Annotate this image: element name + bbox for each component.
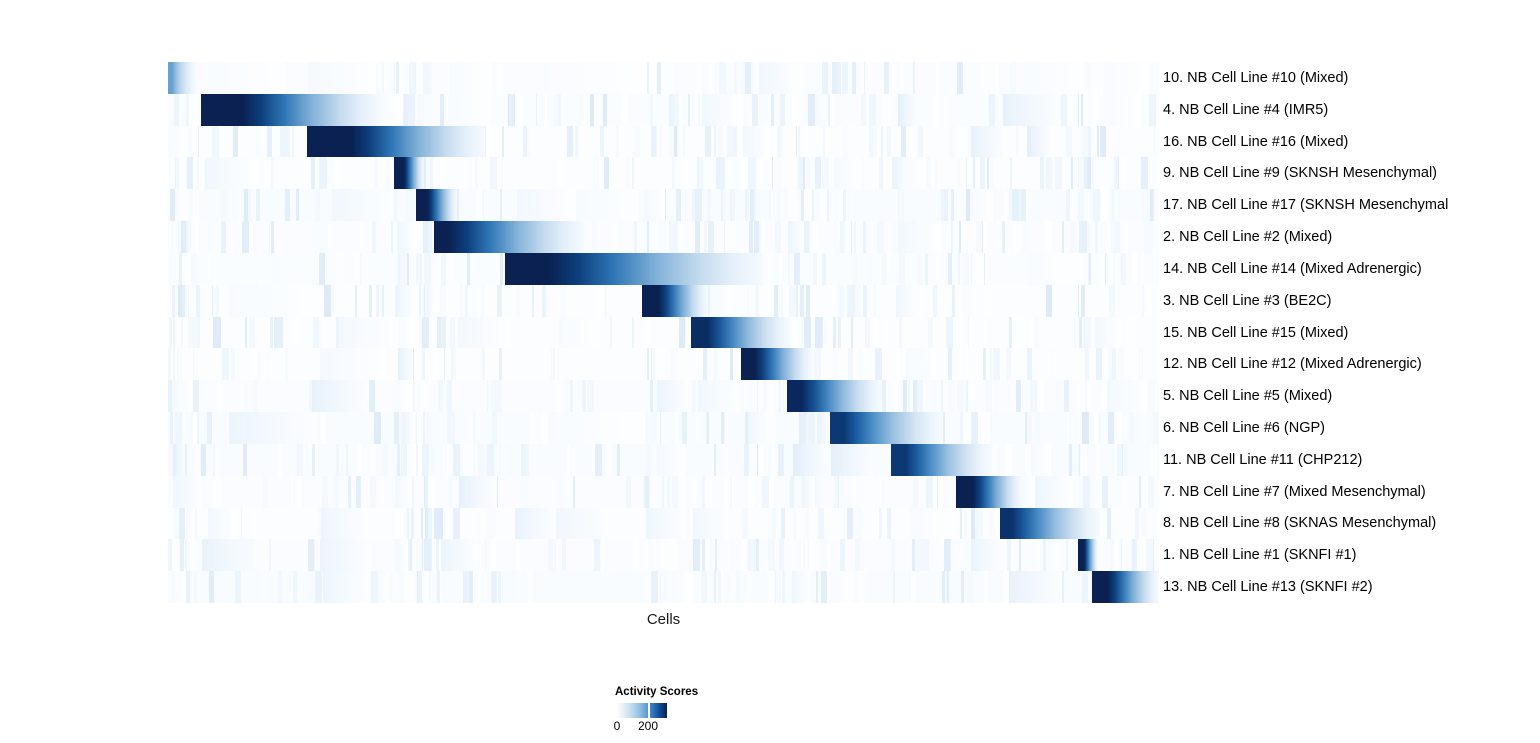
heatmap-noise-column — [667, 476, 671, 508]
heatmap-noise-column — [1035, 412, 1041, 444]
heatmap-noise-column — [561, 571, 564, 603]
heatmap-block-smear — [1030, 253, 1065, 285]
row-label: 2. NB Cell Line #2 (Mixed) — [1163, 227, 1332, 247]
heatmap-noise-column — [293, 317, 299, 349]
x-axis-label: Cells — [168, 611, 1159, 628]
heatmap-noise-column — [516, 539, 520, 571]
heatmap-noise-column — [757, 380, 759, 412]
heatmap-noise-column — [961, 221, 964, 253]
heatmap-noise-column — [564, 444, 566, 476]
heatmap-noise-column — [1018, 126, 1024, 158]
heatmap-block-smear — [397, 221, 416, 253]
heatmap-noise-column — [979, 508, 983, 540]
heatmap-noise-column — [626, 157, 630, 189]
heatmap-noise-column — [1034, 189, 1038, 221]
heatmap-noise-column — [973, 317, 979, 349]
heatmap-noise-column — [610, 317, 612, 349]
heatmap-figure: GEPs Cells 10. NB Cell Line #10 (Mixed)4… — [0, 0, 1540, 743]
heatmap-noise-column — [1046, 157, 1052, 189]
heatmap-noise-column — [658, 221, 665, 253]
heatmap-noise-column — [473, 508, 476, 540]
heatmap-noise-column — [778, 285, 780, 317]
heatmap-noise-column — [182, 253, 186, 285]
heatmap-block-smear — [208, 508, 235, 540]
heatmap-noise-column — [650, 412, 657, 444]
heatmap-noise-column — [1144, 539, 1146, 571]
heatmap-block-smear — [1031, 444, 1051, 476]
heatmap-noise-column — [1087, 62, 1089, 94]
row-label: 5. NB Cell Line #5 (Mixed) — [1163, 386, 1332, 406]
heatmap-noise-column — [634, 221, 636, 253]
heatmap-noise-column — [768, 539, 775, 571]
heatmap-noise-column — [1100, 412, 1107, 444]
heatmap-noise-column — [840, 221, 843, 253]
heatmap-noise-column — [500, 189, 502, 221]
heatmap-noise-column — [430, 444, 434, 476]
heatmap-noise-column — [237, 189, 241, 221]
heatmap-noise-column — [453, 444, 459, 476]
heatmap-noise-column — [626, 476, 630, 508]
heatmap-block-smear — [1095, 317, 1120, 349]
heatmap-noise-column — [971, 412, 975, 444]
heatmap-block-smear — [830, 571, 853, 603]
heatmap-noise-column — [253, 380, 256, 412]
heatmap-noise-column — [1094, 412, 1099, 444]
heatmap-noise-column — [490, 157, 497, 189]
heatmap-noise-column — [271, 253, 278, 285]
heatmap-noise-column — [768, 412, 775, 444]
heatmap-noise-column — [1087, 380, 1090, 412]
heatmap-noise-column — [406, 189, 413, 221]
heatmap-noise-column — [334, 221, 340, 253]
heatmap-noise-column — [441, 317, 446, 349]
heatmap-block-smear — [1103, 62, 1151, 94]
heatmap-noise-column — [1127, 285, 1133, 317]
heatmap-noise-column — [296, 126, 300, 158]
heatmap-activity-band — [307, 126, 485, 158]
heatmap-noise-column — [176, 157, 180, 189]
heatmap-noise-column — [917, 253, 922, 285]
heatmap-noise-column — [1104, 539, 1106, 571]
heatmap-noise-column — [1143, 476, 1146, 508]
heatmap-row — [168, 285, 1159, 317]
heatmap-noise-column — [523, 126, 527, 158]
heatmap-noise-column — [703, 348, 707, 380]
heatmap-noise-column — [340, 253, 344, 285]
heatmap-noise-column — [614, 476, 616, 508]
heatmap-noise-column — [697, 62, 701, 94]
heatmap-noise-column — [683, 94, 688, 126]
heatmap-noise-column — [557, 348, 560, 380]
heatmap-noise-column — [253, 508, 256, 540]
heatmap-block-smear — [517, 189, 576, 221]
heatmap-noise-column — [759, 539, 761, 571]
heatmap-noise-column — [873, 126, 877, 158]
heatmap-noise-column — [355, 285, 357, 317]
heatmap-noise-column — [270, 317, 272, 349]
heatmap-noise-column — [911, 571, 916, 603]
heatmap-block-smear — [657, 444, 685, 476]
heatmap-activity-band — [1000, 508, 1099, 540]
heatmap-noise-column — [1108, 412, 1114, 444]
heatmap-noise-column — [994, 380, 999, 412]
heatmap-noise-column — [885, 94, 891, 126]
heatmap-noise-column — [602, 476, 607, 508]
heatmap-noise-column — [833, 317, 836, 349]
heatmap-noise-column — [847, 508, 853, 540]
heatmap-noise-column — [897, 348, 900, 380]
heatmap-noise-column — [516, 285, 520, 317]
heatmap-noise-column — [1009, 317, 1012, 349]
heatmap-noise-column — [370, 476, 375, 508]
heatmap-row — [168, 571, 1159, 603]
heatmap-noise-column — [937, 348, 941, 380]
heatmap-noise-column — [313, 317, 319, 349]
heatmap-noise-column — [785, 476, 787, 508]
heatmap-noise-column — [772, 444, 774, 476]
heatmap-block-smear — [320, 539, 372, 571]
heatmap-noise-column — [436, 539, 439, 571]
heatmap-noise-column — [959, 126, 965, 158]
heatmap-noise-column — [799, 62, 803, 94]
heatmap-noise-column — [804, 317, 811, 349]
heatmap-noise-column — [450, 317, 456, 349]
heatmap-noise-column — [1066, 126, 1072, 158]
heatmap-noise-column — [852, 62, 855, 94]
heatmap-noise-column — [901, 126, 906, 158]
heatmap-noise-column — [478, 444, 484, 476]
heatmap-noise-column — [1055, 380, 1062, 412]
heatmap-noise-column — [805, 126, 808, 158]
heatmap-noise-column — [324, 285, 331, 317]
heatmap-noise-column — [730, 476, 732, 508]
heatmap-noise-column — [719, 157, 725, 189]
heatmap-noise-column — [775, 157, 781, 189]
heatmap-noise-column — [951, 189, 954, 221]
heatmap-block-smear — [459, 476, 495, 508]
heatmap-noise-column — [499, 444, 501, 476]
heatmap-noise-column — [951, 221, 954, 253]
heatmap-noise-column — [321, 412, 326, 444]
heatmap-noise-column — [196, 221, 199, 253]
row-label: 3. NB Cell Line #3 (BE2C) — [1163, 291, 1331, 311]
heatmap-noise-column — [661, 412, 666, 444]
heatmap-noise-column — [487, 444, 494, 476]
heatmap-noise-column — [487, 380, 489, 412]
heatmap-noise-column — [973, 157, 975, 189]
heatmap-activity-band — [787, 380, 881, 412]
heatmap-row — [168, 62, 1159, 94]
heatmap-noise-column — [936, 62, 939, 94]
heatmap-block-smear — [402, 412, 414, 444]
heatmap-noise-column — [617, 444, 620, 476]
heatmap-noise-column — [322, 476, 328, 508]
heatmap-block-smear — [788, 221, 803, 253]
heatmap-noise-column — [208, 189, 214, 221]
heatmap-noise-column — [666, 62, 672, 94]
heatmap-noise-column — [674, 126, 677, 158]
heatmap-noise-column — [244, 189, 248, 221]
heatmap-noise-column — [1019, 189, 1021, 221]
heatmap-noise-column — [570, 380, 573, 412]
heatmap-noise-column — [904, 62, 910, 94]
heatmap-noise-column — [185, 444, 187, 476]
heatmap-noise-column — [386, 157, 391, 189]
heatmap-row — [168, 317, 1159, 349]
heatmap-noise-column — [814, 62, 820, 94]
heatmap-noise-column — [999, 157, 1001, 189]
heatmap-noise-column — [1100, 126, 1106, 158]
heatmap-noise-column — [1043, 539, 1046, 571]
heatmap-noise-column — [750, 285, 752, 317]
heatmap-block-smear — [896, 285, 916, 317]
heatmap-noise-column — [440, 285, 446, 317]
heatmap-noise-column — [727, 126, 734, 158]
heatmap-noise-column — [1140, 348, 1142, 380]
heatmap-noise-column — [175, 539, 179, 571]
heatmap-noise-column — [710, 444, 714, 476]
heatmap-noise-column — [842, 317, 846, 349]
heatmap-noise-column — [865, 317, 870, 349]
heatmap-noise-column — [876, 285, 882, 317]
heatmap-noise-column — [747, 285, 749, 317]
heatmap-noise-column — [731, 157, 737, 189]
heatmap-noise-column — [828, 539, 829, 571]
heatmap-noise-column — [354, 253, 360, 285]
heatmap-noise-column — [221, 221, 226, 253]
heatmap-block-smear — [312, 380, 369, 412]
heatmap-noise-column — [410, 571, 414, 603]
heatmap-noise-column — [913, 380, 917, 412]
heatmap-noise-column — [1097, 126, 1099, 158]
heatmap-noise-column — [509, 94, 515, 126]
heatmap-block-smear — [702, 94, 743, 126]
row-label: 4. NB Cell Line #4 (IMR5) — [1163, 100, 1328, 120]
heatmap-noise-column — [804, 221, 810, 253]
heatmap-noise-column — [193, 94, 199, 126]
heatmap-noise-column — [988, 253, 992, 285]
heatmap-noise-column — [492, 412, 497, 444]
heatmap-noise-column — [926, 476, 929, 508]
heatmap-noise-column — [499, 348, 502, 380]
heatmap-noise-column — [469, 571, 473, 603]
heatmap-noise-column — [293, 571, 296, 603]
heatmap-noise-column — [478, 157, 480, 189]
heatmap-activity-band — [1092, 571, 1159, 603]
heatmap-noise-column — [1004, 253, 1011, 285]
heatmap-noise-column — [816, 476, 821, 508]
heatmap-noise-column — [714, 571, 716, 603]
heatmap-noise-column — [249, 317, 255, 349]
heatmap-noise-column — [706, 412, 708, 444]
heatmap-noise-column — [285, 348, 288, 380]
heatmap-noise-column — [995, 317, 997, 349]
heatmap-noise-column — [1045, 221, 1051, 253]
heatmap-noise-column — [447, 380, 452, 412]
heatmap-noise-column — [1121, 157, 1124, 189]
heatmap-noise-column — [742, 571, 747, 603]
heatmap-block-smear — [395, 539, 409, 571]
heatmap-noise-column — [798, 126, 801, 158]
heatmap-noise-column — [741, 62, 745, 94]
heatmap-noise-column — [809, 539, 814, 571]
heatmap-noise-column — [764, 189, 769, 221]
heatmap-noise-column — [1079, 221, 1086, 253]
heatmap-noise-column — [170, 412, 174, 444]
heatmap-noise-column — [830, 94, 835, 126]
heatmap-noise-column — [992, 62, 995, 94]
heatmap-noise-column — [1071, 157, 1073, 189]
heatmap-noise-column — [422, 444, 429, 476]
heatmap-noise-column — [647, 444, 650, 476]
heatmap-noise-column — [644, 571, 649, 603]
heatmap-noise-column — [1027, 348, 1032, 380]
heatmap-noise-column — [887, 126, 890, 158]
heatmap-noise-column — [834, 476, 838, 508]
heatmap-noise-column — [713, 348, 717, 380]
colorbar-tick-label: 200 — [628, 719, 668, 733]
heatmap-noise-column — [894, 380, 898, 412]
heatmap-noise-column — [649, 348, 651, 380]
heatmap-noise-column — [1114, 157, 1117, 189]
heatmap-noise-column — [425, 285, 432, 317]
heatmap-noise-column — [445, 348, 451, 380]
heatmap-noise-column — [778, 444, 783, 476]
heatmap-noise-column — [276, 348, 282, 380]
row-label: 13. NB Cell Line #13 (SKNFI #2) — [1163, 577, 1373, 597]
row-label: 7. NB Cell Line #7 (Mixed Mesenchymal) — [1163, 482, 1426, 502]
heatmap-noise-column — [899, 317, 903, 349]
heatmap-noise-column — [626, 539, 633, 571]
heatmap-noise-column — [694, 412, 701, 444]
heatmap-noise-column — [1069, 412, 1072, 444]
heatmap-noise-column — [743, 157, 745, 189]
heatmap-noise-column — [854, 221, 856, 253]
heatmap-noise-column — [768, 508, 770, 540]
heatmap-noise-column — [566, 380, 571, 412]
heatmap-activity-band — [201, 94, 381, 126]
heatmap-block-smear — [207, 62, 285, 94]
heatmap-noise-column — [1055, 157, 1062, 189]
heatmap-noise-column — [170, 189, 175, 221]
heatmap-noise-column — [832, 348, 837, 380]
heatmap-noise-column — [356, 476, 361, 508]
heatmap-noise-column — [212, 126, 219, 158]
heatmap-noise-column — [575, 126, 578, 158]
heatmap-noise-column — [213, 444, 215, 476]
heatmap-noise-column — [976, 221, 982, 253]
heatmap-noise-column — [622, 508, 624, 540]
heatmap-noise-column — [752, 94, 758, 126]
heatmap-noise-column — [315, 571, 321, 603]
heatmap-noise-column — [1068, 476, 1074, 508]
heatmap-noise-column — [1138, 444, 1141, 476]
heatmap-noise-column — [1074, 317, 1076, 349]
heatmap-noise-column — [831, 189, 836, 221]
heatmap-noise-column — [512, 571, 516, 603]
heatmap-noise-column — [863, 221, 865, 253]
heatmap-noise-column — [792, 94, 796, 126]
heatmap-noise-column — [1118, 157, 1120, 189]
heatmap-noise-column — [1122, 476, 1129, 508]
heatmap-noise-column — [172, 221, 174, 253]
heatmap-noise-column — [180, 348, 182, 380]
heatmap-noise-column — [1153, 126, 1157, 158]
heatmap-row — [168, 94, 1159, 126]
heatmap-noise-column — [859, 348, 861, 380]
heatmap-noise-column — [1012, 444, 1017, 476]
heatmap-noise-column — [865, 62, 867, 94]
heatmap-noise-column — [1022, 221, 1028, 253]
heatmap-noise-column — [797, 539, 801, 571]
heatmap-noise-column — [243, 444, 247, 476]
heatmap-noise-column — [560, 285, 566, 317]
heatmap-block-smear — [168, 126, 188, 158]
heatmap-noise-column — [943, 94, 948, 126]
heatmap-noise-column — [812, 221, 817, 253]
heatmap-noise-column — [784, 126, 786, 158]
heatmap-noise-column — [788, 189, 794, 221]
heatmap-noise-column — [192, 380, 199, 412]
heatmap-noise-column — [381, 476, 385, 508]
heatmap-noise-column — [762, 476, 768, 508]
heatmap-noise-column — [883, 285, 889, 317]
heatmap-noise-column — [632, 317, 634, 349]
heatmap-noise-column — [256, 189, 260, 221]
heatmap-noise-column — [408, 94, 415, 126]
heatmap-noise-column — [399, 62, 405, 94]
heatmap-noise-column — [613, 221, 619, 253]
heatmap-noise-column — [701, 221, 704, 253]
colorbar-tick-mark — [648, 703, 650, 718]
heatmap-noise-column — [1082, 412, 1089, 444]
heatmap-noise-column — [346, 444, 349, 476]
heatmap-noise-column — [972, 253, 976, 285]
heatmap-noise-column — [799, 412, 806, 444]
heatmap-noise-column — [735, 444, 739, 476]
heatmap-block-smear — [831, 444, 874, 476]
heatmap-noise-column — [885, 476, 887, 508]
heatmap-noise-column — [263, 348, 268, 380]
heatmap-noise-column — [1110, 539, 1114, 571]
heatmap-noise-column — [416, 348, 421, 380]
heatmap-noise-column — [1108, 253, 1112, 285]
heatmap-noise-column — [409, 62, 415, 94]
heatmap-block-smear — [202, 539, 268, 571]
heatmap-noise-column — [839, 189, 843, 221]
heatmap-noise-column — [1019, 348, 1021, 380]
heatmap-noise-column — [863, 285, 867, 317]
heatmap-noise-column — [781, 380, 784, 412]
heatmap-noise-column — [1095, 444, 1100, 476]
heatmap-noise-column — [887, 253, 890, 285]
heatmap-noise-column — [924, 285, 927, 317]
heatmap-noise-column — [725, 412, 730, 444]
heatmap-noise-column — [1038, 380, 1044, 412]
heatmap-noise-column — [376, 508, 383, 540]
heatmap-noise-column — [931, 380, 937, 412]
heatmap-noise-column — [693, 94, 695, 126]
heatmap-noise-column — [444, 253, 447, 285]
heatmap-noise-column — [467, 157, 471, 189]
heatmap-block-smear — [898, 94, 918, 126]
heatmap-noise-column — [179, 508, 181, 540]
heatmap-noise-column — [205, 285, 211, 317]
heatmap-noise-column — [817, 253, 822, 285]
heatmap-noise-column — [904, 317, 906, 349]
heatmap-noise-column — [185, 539, 187, 571]
heatmap-noise-column — [453, 348, 457, 380]
